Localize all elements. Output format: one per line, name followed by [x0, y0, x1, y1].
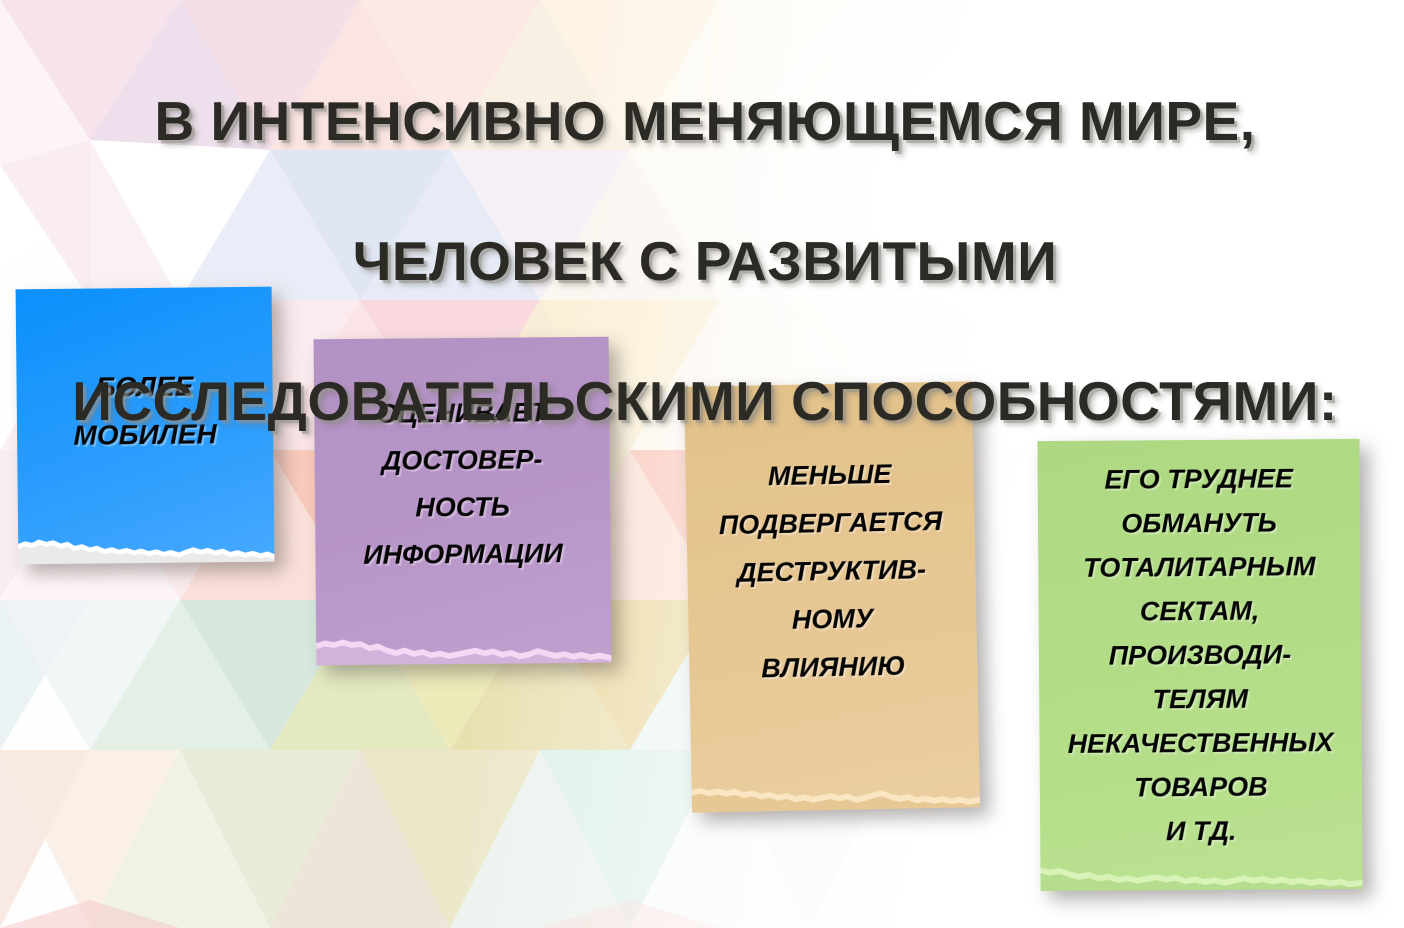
slide-canvas: В ИНТЕНСИВНО МЕНЯЮЩЕМСЯ МИРЕ, ЧЕЛОВЕК С … [0, 0, 1404, 928]
torn-edge-purple [316, 629, 611, 666]
title-line-3: ИССЛЕДОВАТЕЛЬСКИМИ СПОСОБНОСТЯМИ: [60, 366, 1350, 436]
title-line-2: ЧЕЛОВЕК С РАЗВИТЫМИ [60, 226, 1350, 296]
title-line-1: В ИНТЕНСИВНО МЕНЯЮЩЕМСЯ МИРЕ, [60, 86, 1350, 156]
card-harder-to-deceive-body: ЕГО ТРУДНЕЕ ОБМАНУТЬ ТОТАЛИТАРНЫМ СЕКТАМ… [1037, 439, 1362, 891]
torn-edge-blue [18, 528, 274, 565]
slide-title: В ИНТЕНСИВНО МЕНЯЮЩЕМСЯ МИРЕ, ЧЕЛОВЕК С … [60, 16, 1350, 506]
card-harder-to-deceive-text: ЕГО ТРУДНЕЕ ОБМАНУТЬ ТОТАЛИТАРНЫМ СЕКТАМ… [1038, 456, 1363, 874]
torn-edge-tan [691, 773, 980, 813]
card-harder-to-deceive[interactable]: ЕГО ТРУДНЕЕ ОБМАНУТЬ ТОТАЛИТАРНЫМ СЕКТАМ… [1037, 439, 1362, 891]
